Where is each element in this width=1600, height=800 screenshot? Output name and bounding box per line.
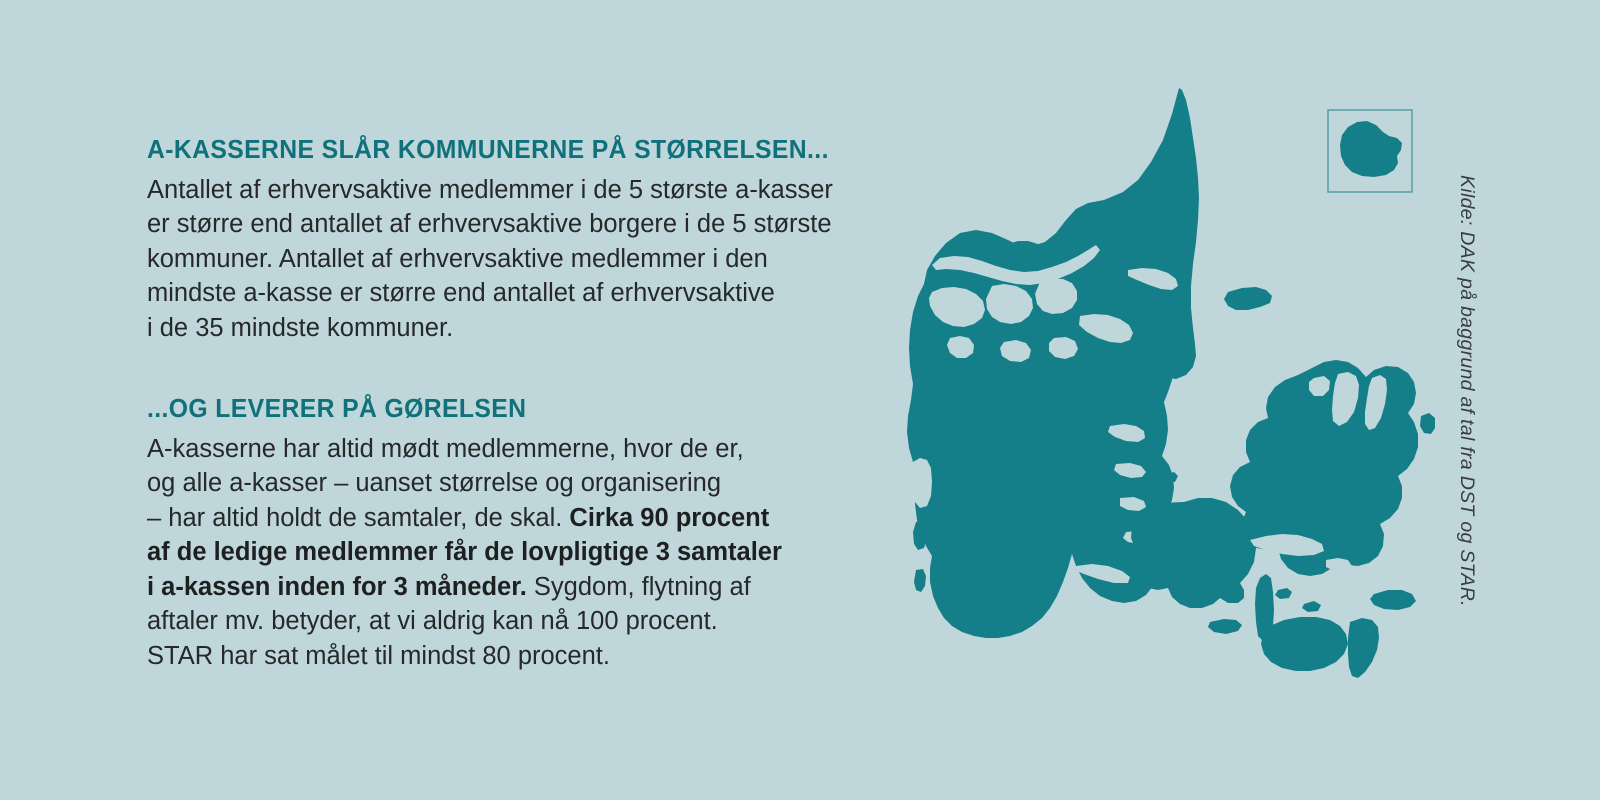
block-1-line-1: Antallet af erhvervsaktive medlemmer i d… bbox=[147, 173, 907, 208]
island-funen bbox=[1131, 498, 1256, 608]
block-2-line-3: – har altid holdt de samtaler, de skal. … bbox=[147, 501, 907, 536]
island-laeso bbox=[1224, 287, 1272, 310]
block-2-line-4: af de ledige medlemmer får de lovpligtig… bbox=[147, 535, 907, 570]
block-1-line-4: mindste a-kasse er større end antallet a… bbox=[147, 276, 907, 311]
text-block-2: ...OG LEVERER PÅ GØRELSEN A-kasserne har… bbox=[147, 397, 907, 673]
block-1-body: Antallet af erhvervsaktive medlemmer i d… bbox=[147, 173, 907, 346]
island-lolland bbox=[1261, 617, 1348, 671]
islet-fejo bbox=[1302, 601, 1321, 612]
block-1-heading: A-KASSERNE SLÅR KOMMUNERNE PÅ STØRRELSEN… bbox=[147, 138, 884, 164]
island-falster bbox=[1348, 618, 1379, 678]
block-2-body: A-kasserne har altid mødt medlemmerne, h… bbox=[147, 432, 907, 674]
island-bornholm bbox=[1340, 121, 1402, 177]
text-block-1: A-KASSERNE SLÅR KOMMUNERNE PÅ STØRRELSEN… bbox=[147, 138, 907, 345]
island-aro bbox=[1208, 619, 1242, 634]
block-2-line-3-normal: – har altid holdt de samtaler, de skal. bbox=[147, 504, 569, 532]
island-orto bbox=[1420, 413, 1435, 434]
block-2-line-3-bold: Cirka 90 procent bbox=[569, 504, 769, 532]
ringkobing-fjord bbox=[911, 458, 932, 508]
bornholm-inset bbox=[1328, 110, 1412, 192]
block-2-line-5-bold: i a-kassen inden for 3 måneder. bbox=[147, 573, 527, 601]
source-note: Kilde: DAK på baggrund af tal fra DST og… bbox=[1455, 175, 1478, 615]
block-2-line-2: og alle a-kasser – uanset størrelse og o… bbox=[147, 466, 907, 501]
island-mon bbox=[1370, 590, 1416, 610]
island-fano bbox=[913, 520, 927, 550]
block-2-line-7: STAR har sat målet til mindst 80 procent… bbox=[147, 639, 907, 674]
block-1-line-2: er større end antallet af erhvervsaktive… bbox=[147, 207, 907, 242]
block-1-line-3: kommuner. Antallet af erhvervsaktive med… bbox=[147, 242, 907, 277]
block-2-line-1: A-kasserne har altid mødt medlemmerne, h… bbox=[147, 432, 907, 467]
island-romo bbox=[914, 569, 926, 592]
block-2-line-6: aftaler mv. betyder, at vi aldrig kan nå… bbox=[147, 604, 907, 639]
block-2-line-5-normal: Sygdom, flytning af bbox=[527, 573, 751, 601]
block-2-line-5: i a-kassen inden for 3 måneder. Sygdom, … bbox=[147, 570, 907, 605]
islet-omo bbox=[1275, 588, 1292, 599]
infographic-canvas: A-KASSERNE SLÅR KOMMUNERNE PÅ STØRRELSEN… bbox=[0, 0, 1600, 800]
denmark-map bbox=[880, 70, 1460, 710]
text-column: A-KASSERNE SLÅR KOMMUNERNE PÅ STØRRELSEN… bbox=[147, 138, 907, 673]
block-1-line-5: i de 35 mindste kommuner. bbox=[147, 311, 907, 346]
block-2-heading: ...OG LEVERER PÅ GØRELSEN bbox=[147, 397, 884, 423]
map-land-shapes bbox=[907, 88, 1435, 678]
block-2-line-4-bold: af de ledige medlemmer får de lovpligtig… bbox=[147, 538, 782, 566]
